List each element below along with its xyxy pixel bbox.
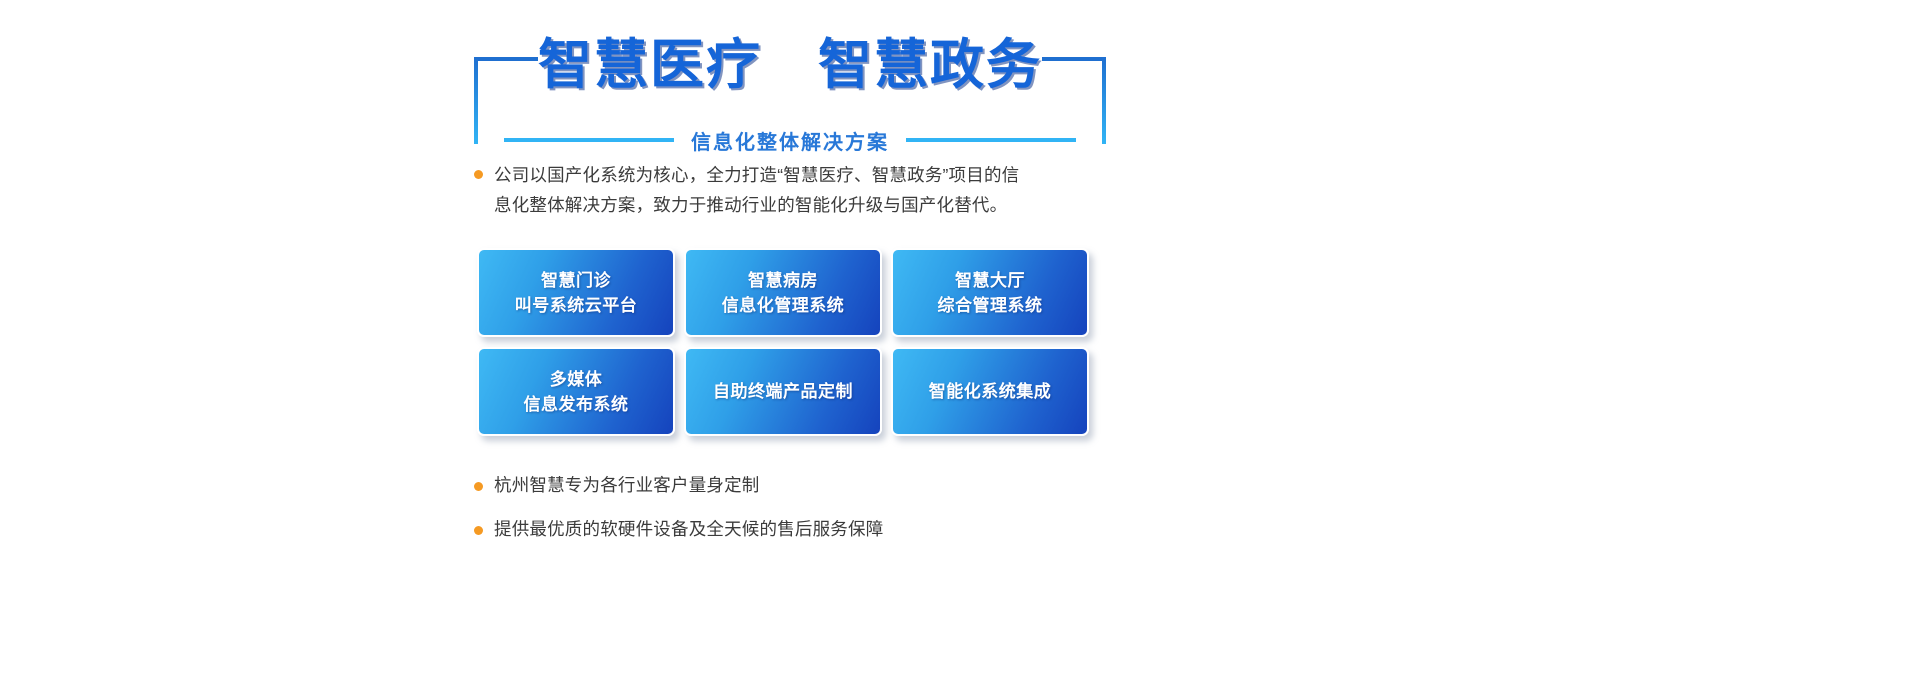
card-label-line-1: 智能化系统集成 bbox=[929, 382, 1052, 401]
footer-bullet-text: 杭州智慧专为各行业客户量身定制 bbox=[494, 472, 760, 498]
card-label: 智慧病房 信息化管理系统 bbox=[722, 268, 845, 318]
card-label: 智能化系统集成 bbox=[929, 379, 1052, 404]
card-label-line-2: 信息化管理系统 bbox=[722, 296, 845, 315]
card-multimedia[interactable]: 多媒体 信息发布系统 bbox=[477, 347, 675, 436]
card-label: 智慧门诊 叫号系统云平台 bbox=[515, 268, 638, 318]
list-item: 杭州智慧专为各行业客户量身定制 bbox=[474, 472, 1114, 498]
card-label: 智慧大厅 综合管理系统 bbox=[938, 268, 1043, 318]
card-label-line-1: 自助终端产品定制 bbox=[713, 382, 853, 401]
solution-card-grid: 智慧门诊 叫号系统云平台 智慧病房 信息化管理系统 智慧大厅 综合管理系统 多媒… bbox=[477, 248, 1093, 436]
card-smart-ward[interactable]: 智慧病房 信息化管理系统 bbox=[684, 248, 882, 337]
card-label: 多媒体 信息发布系统 bbox=[524, 367, 629, 417]
card-label: 自助终端产品定制 bbox=[713, 379, 853, 404]
header-block: 智慧医疗 智慧政务 信息化整体解决方案 bbox=[474, 28, 1106, 140]
footer-bullet-list: 杭州智慧专为各行业客户量身定制 提供最优质的软硬件设备及全天候的售后服务保障 bbox=[474, 472, 1114, 542]
card-label-line-1: 智慧门诊 bbox=[541, 271, 611, 290]
dot-icon bbox=[474, 170, 483, 179]
intro-row: 公司以国产化系统为核心，全力打造“智慧医疗、智慧政务”项目的信 息化整体解决方案… bbox=[474, 160, 1114, 220]
list-item: 提供最优质的软硬件设备及全天候的售后服务保障 bbox=[474, 516, 1114, 542]
intro-line-1: 公司以国产化系统为核心，全力打造“智慧医疗、智慧政务”项目的信 bbox=[494, 165, 1019, 185]
card-label-line-2: 叫号系统云平台 bbox=[515, 296, 638, 315]
dot-icon bbox=[474, 526, 483, 535]
intro-paragraph: 公司以国产化系统为核心，全力打造“智慧医疗、智慧政务”项目的信 息化整体解决方案… bbox=[474, 160, 1114, 220]
footer-bullet-text: 提供最优质的软硬件设备及全天候的售后服务保障 bbox=[494, 516, 883, 542]
intro-line-2: 息化整体解决方案，致力于推动行业的智能化升级与国产化替代。 bbox=[494, 190, 1019, 220]
intro-text: 公司以国产化系统为核心，全力打造“智慧医疗、智慧政务”项目的信 息化整体解决方案… bbox=[494, 160, 1019, 220]
card-label-line-2: 综合管理系统 bbox=[938, 296, 1043, 315]
card-self-service-terminal[interactable]: 自助终端产品定制 bbox=[684, 347, 882, 436]
card-label-line-1: 多媒体 bbox=[550, 370, 603, 389]
card-label-line-2: 信息发布系统 bbox=[524, 395, 629, 414]
page-title: 智慧医疗 智慧政务 bbox=[474, 28, 1106, 102]
card-smart-hall[interactable]: 智慧大厅 综合管理系统 bbox=[891, 248, 1089, 337]
card-label-line-1: 智慧大厅 bbox=[955, 271, 1025, 290]
card-smart-outpatient[interactable]: 智慧门诊 叫号系统云平台 bbox=[477, 248, 675, 337]
card-label-line-1: 智慧病房 bbox=[748, 271, 818, 290]
dot-icon bbox=[474, 482, 483, 491]
banner-stage: 智慧医疗 智慧政务 信息化整体解决方案 公司以国产化系统为核心，全力打造“智慧医… bbox=[0, 0, 1920, 680]
card-intelligent-integration[interactable]: 智能化系统集成 bbox=[891, 347, 1089, 436]
page-subtitle: 信息化整体解决方案 bbox=[474, 126, 1106, 155]
